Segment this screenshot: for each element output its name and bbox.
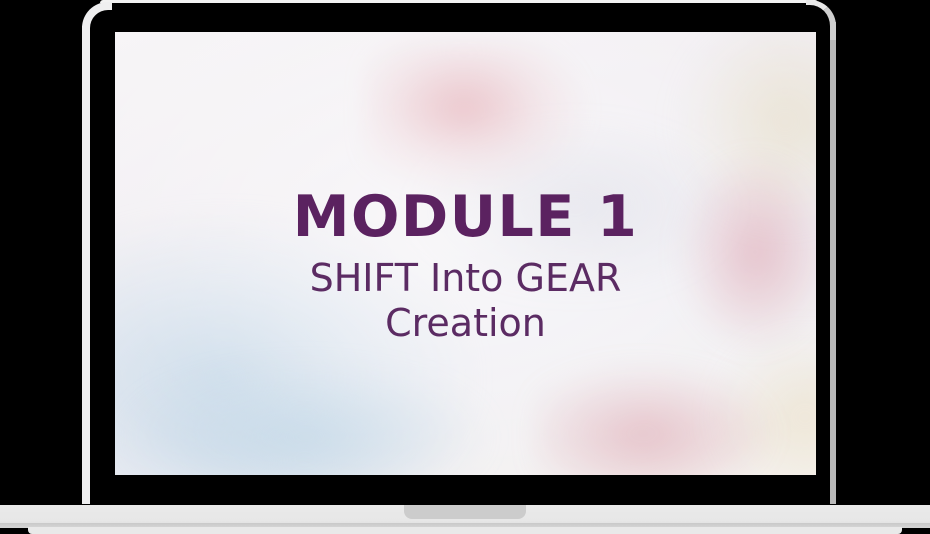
lid-left-edge-highlight (82, 26, 90, 504)
screenshot-stage: MODULE 1 SHIFT Into GEAR Creation (0, 0, 930, 534)
slide-subtitle: SHIFT Into GEAR Creation (310, 256, 622, 346)
lid-right-edge-highlight (830, 22, 836, 504)
slide-title: MODULE 1 (293, 189, 639, 246)
lid-top-edge-highlight (100, 0, 818, 3)
laptop-base-notch (404, 505, 526, 519)
laptop-base-foot-strip (28, 527, 902, 534)
lid-left-corner-highlight (82, 2, 112, 42)
slide-subtitle-line-1: SHIFT Into GEAR (310, 256, 622, 301)
laptop-screen: MODULE 1 SHIFT Into GEAR Creation (115, 32, 816, 475)
slide-subtitle-line-2: Creation (310, 301, 622, 346)
slide-text-block: MODULE 1 SHIFT Into GEAR Creation (115, 32, 816, 475)
